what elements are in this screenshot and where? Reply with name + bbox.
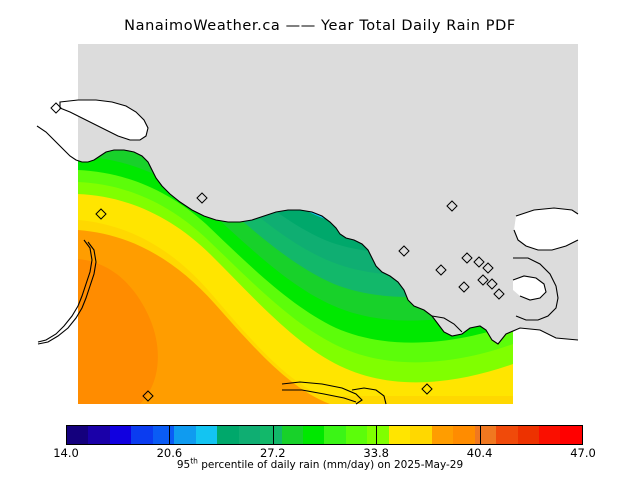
colorbar-label-27.2: 27.2: [260, 446, 286, 460]
colorbar-band-20[interactable]: [496, 426, 517, 444]
colorbar-band-12[interactable]: [324, 426, 345, 444]
colorbar-band-13[interactable]: [346, 426, 367, 444]
colorbar-band-17[interactable]: [432, 426, 453, 444]
colorbar-band-2[interactable]: [110, 426, 131, 444]
colorbar-label-20.6: 20.6: [157, 446, 183, 460]
colorbar-band-18[interactable]: [453, 426, 474, 444]
colorbar-tick-labels: 14.020.627.233.840.447.0: [0, 446, 640, 460]
colorbar-band-23[interactable]: [560, 426, 581, 444]
colorbar-strip[interactable]: [66, 425, 583, 445]
colorbar-band-5[interactable]: [174, 426, 195, 444]
colorbar[interactable]: [66, 425, 583, 445]
colorbar-band-21[interactable]: [518, 426, 539, 444]
colorbar-band-22[interactable]: [539, 426, 560, 444]
colorbar-label-33.8: 33.8: [363, 446, 389, 460]
colorbar-band-11[interactable]: [303, 426, 324, 444]
contour-map[interactable]: [0, 44, 640, 406]
colorbar-band-7[interactable]: [217, 426, 238, 444]
colorbar-label-14.0: 14.0: [53, 446, 79, 460]
colorbar-band-19[interactable]: [475, 426, 496, 444]
colorbar-band-6[interactable]: [196, 426, 217, 444]
page-title: NanaimoWeather.ca —— Year Total Daily Ra…: [0, 18, 640, 34]
mask-bottom: [0, 404, 640, 406]
map-plot-area[interactable]: [0, 44, 640, 406]
colorbar-band-16[interactable]: [410, 426, 431, 444]
colorbar-band-14[interactable]: [367, 426, 388, 444]
mask-right-lower: [513, 340, 640, 406]
colorbar-caption: 95th percentile of daily rain (mm/day) o…: [0, 459, 640, 471]
colorbar-label-47.0: 47.0: [570, 446, 596, 460]
colorbar-band-9[interactable]: [260, 426, 281, 444]
colorbar-band-1[interactable]: [88, 426, 109, 444]
colorbar-band-10[interactable]: [282, 426, 303, 444]
caption-ordinal-suffix: th: [190, 457, 198, 466]
colorbar-band-8[interactable]: [239, 426, 260, 444]
mask-left: [0, 44, 78, 406]
colorbar-band-4[interactable]: [153, 426, 174, 444]
caption-value: 95: [177, 459, 190, 471]
caption-text: percentile of daily rain (mm/day) on 202…: [198, 459, 463, 471]
colorbar-band-15[interactable]: [389, 426, 410, 444]
colorbar-band-0[interactable]: [67, 426, 88, 444]
colorbar-band-3[interactable]: [131, 426, 152, 444]
colorbar-label-40.4: 40.4: [467, 446, 493, 460]
